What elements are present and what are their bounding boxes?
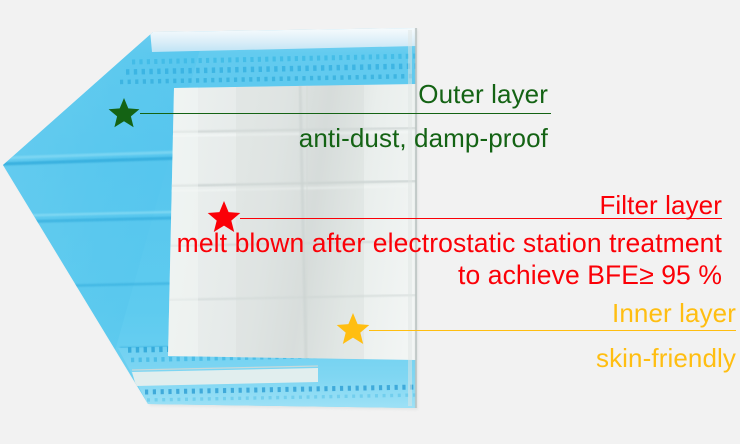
- inner-layer-description: skin-friendly: [596, 345, 736, 371]
- inner-layer-title: Inner layer: [612, 300, 736, 326]
- outer-layer-description: anti-dust, damp-proof: [299, 125, 548, 151]
- callout-line-inner: [369, 330, 736, 331]
- surgical-mask-illustration: [0, 0, 740, 444]
- filter-layer-title: Filter layer: [599, 192, 722, 218]
- callout-line-outer: [140, 113, 551, 114]
- filter-layer-description-line-2: to achieve BFE≥ 95 %: [458, 262, 722, 289]
- mask-layer-infographic: Outer layer anti-dust, damp-proof Filter…: [0, 0, 740, 444]
- mask-inner-white-panel: [150, 70, 440, 370]
- outer-layer-title: Outer layer: [418, 81, 548, 107]
- filter-layer-description-line-1: melt blown after electrostatic station t…: [177, 230, 722, 257]
